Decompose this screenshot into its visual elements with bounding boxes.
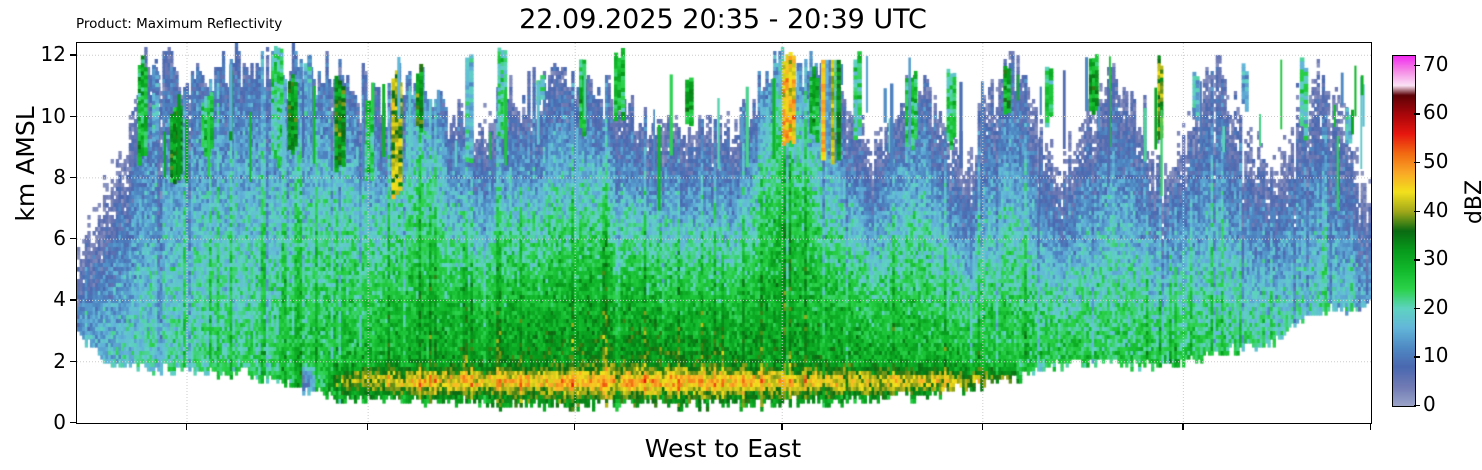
colorbar-tick-mark xyxy=(1414,65,1420,66)
y-tick-label: 8 xyxy=(53,167,66,187)
radar-reflectivity-heatmap xyxy=(77,43,1371,423)
y-tick-label: 10 xyxy=(41,106,66,126)
x-tick-mark xyxy=(1370,423,1371,430)
y-axis-label: km AMSL xyxy=(12,44,40,284)
colorbar-tick-mark xyxy=(1414,211,1420,212)
x-tick-mark xyxy=(1182,423,1183,430)
y-tick-label: 2 xyxy=(53,351,66,371)
colorbar-tick-label: 20 xyxy=(1423,297,1448,317)
colorbar-tick-mark xyxy=(1414,405,1420,406)
colorbar-tick-label: 50 xyxy=(1423,151,1448,171)
x-tick-mark xyxy=(982,423,983,430)
product-label: Product: Maximum Reflectivity xyxy=(76,16,282,32)
x-tick-mark xyxy=(781,423,782,430)
radar-cross-section-figure: 22.09.2025 20:35 - 20:39 UTC Product: Ma… xyxy=(0,0,1482,470)
colorbar-gradient xyxy=(1392,55,1416,407)
x-tick-mark xyxy=(186,423,187,430)
colorbar-tick-label: 10 xyxy=(1423,345,1448,365)
colorbar-tick-mark xyxy=(1414,113,1420,114)
plot-area[interactable] xyxy=(76,42,1372,424)
x-tick-mark xyxy=(367,423,368,430)
y-tick-label: 4 xyxy=(53,289,66,309)
colorbar-tick-label: 60 xyxy=(1423,102,1448,122)
y-tick-label: 6 xyxy=(53,228,66,248)
x-tick-mark xyxy=(574,423,575,430)
y-tick-label: 0 xyxy=(53,412,66,432)
colorbar-tick-label: 70 xyxy=(1423,54,1448,74)
colorbar-unit-label: dBZ xyxy=(1463,157,1482,247)
colorbar-tick-label: 40 xyxy=(1423,200,1448,220)
y-tick-label: 12 xyxy=(41,44,66,64)
colorbar xyxy=(1392,55,1414,405)
colorbar-tick-mark xyxy=(1414,162,1420,163)
colorbar-tick-mark xyxy=(1414,356,1420,357)
x-axis-label: West to East xyxy=(76,434,1370,464)
colorbar-tick-mark xyxy=(1414,259,1420,260)
colorbar-tick-mark xyxy=(1414,308,1420,309)
colorbar-tick-label: 0 xyxy=(1423,394,1436,414)
colorbar-tick-label: 30 xyxy=(1423,248,1448,268)
